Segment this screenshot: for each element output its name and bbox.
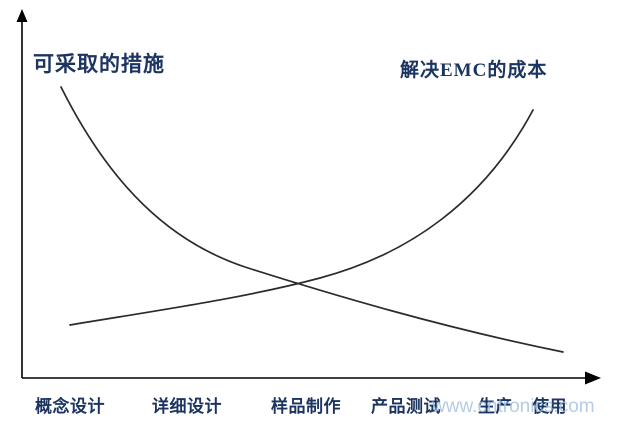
curve-measures bbox=[61, 87, 563, 352]
chart-canvas: 可采取的措施 解决EMC的成本 概念设计 详细设计 样品制作 产品测试 生产 使… bbox=[0, 0, 619, 425]
x-axis-category-4: 生产 bbox=[478, 392, 513, 417]
x-axis-category-0: 概念设计 bbox=[35, 392, 105, 417]
curve-cost bbox=[70, 110, 533, 325]
y-axis-arrow-icon bbox=[17, 9, 28, 22]
x-axis-category-1: 详细设计 bbox=[152, 392, 222, 417]
x-axis-category-3: 产品测试 bbox=[371, 392, 441, 417]
x-axis-category-2: 样品制作 bbox=[271, 392, 341, 417]
x-axis-arrow-icon bbox=[585, 372, 601, 385]
series-label-measures: 可采取的措施 bbox=[33, 48, 165, 78]
series-label-cost: 解决EMC的成本 bbox=[400, 55, 547, 82]
x-axis-category-5: 使用 bbox=[532, 392, 567, 417]
